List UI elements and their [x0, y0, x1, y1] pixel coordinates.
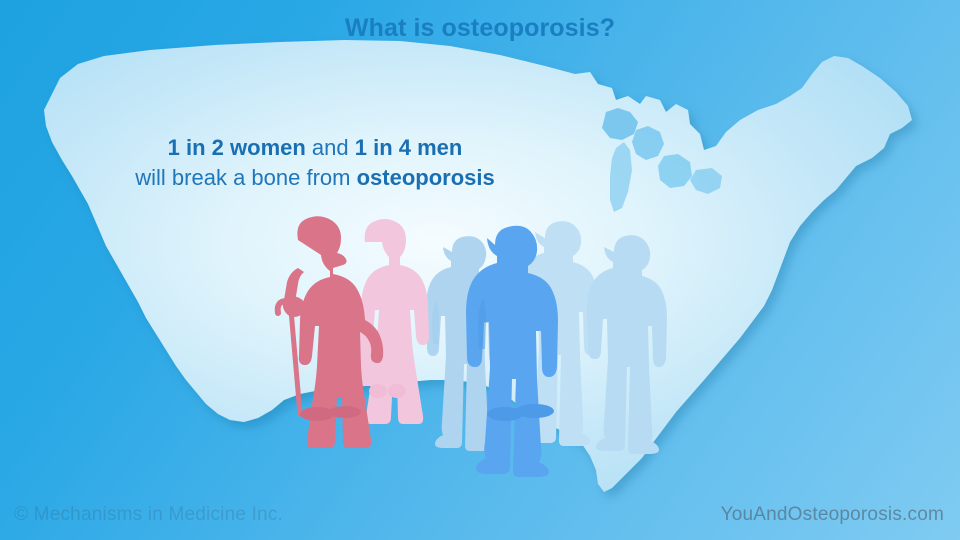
page-title: What is osteoporosis? — [0, 14, 960, 43]
infographic-slide: What is osteoporosis? 1 in 2 women and 1… — [0, 0, 960, 540]
map-layer — [0, 0, 960, 540]
statistic-line-1: 1 in 2 women and 1 in 4 men — [40, 133, 590, 163]
statistic-men: 1 in 4 men — [355, 135, 463, 160]
united-states-map — [0, 0, 960, 540]
statistic-text: 1 in 2 women and 1 in 4 men will break a… — [40, 133, 590, 194]
statistic-predicate: will break a bone from — [135, 165, 356, 190]
statistic-women: 1 in 2 women — [168, 135, 306, 160]
map-shape — [44, 40, 912, 492]
statistic-conjunction: and — [306, 135, 355, 160]
copyright-watermark: © Mechanisms in Medicine Inc. — [14, 504, 283, 526]
statistic-line-2: will break a bone from osteoporosis — [40, 163, 590, 193]
website-watermark: YouAndOsteoporosis.com — [721, 504, 944, 526]
statistic-condition: osteoporosis — [357, 165, 495, 190]
